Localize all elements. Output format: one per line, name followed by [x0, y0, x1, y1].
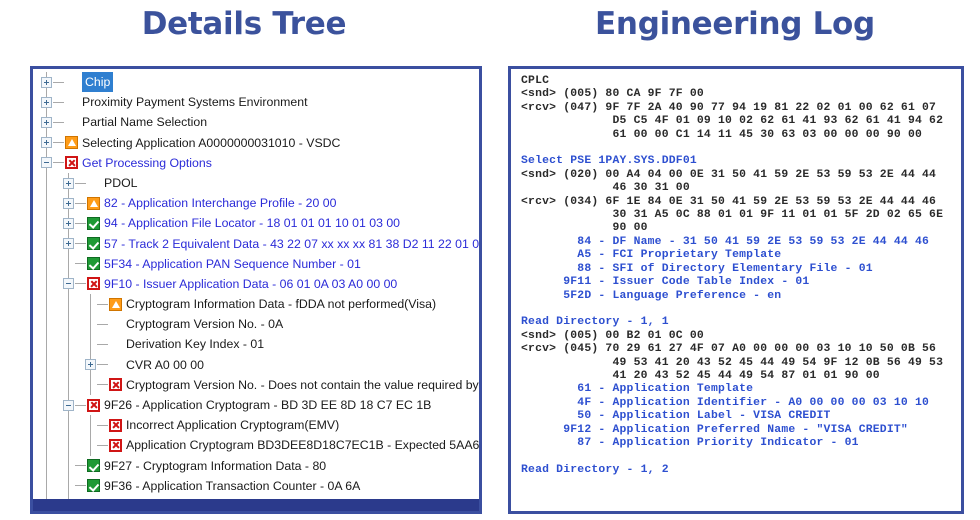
tree-row-label: Chip: [82, 72, 113, 92]
tree-guide-line: [46, 274, 47, 294]
log-line: <rcv> (034) 6F 1E 84 0E 31 50 41 59 2E 5…: [521, 196, 961, 209]
tree-connector: [75, 203, 86, 204]
tree-guide-line: [46, 294, 47, 314]
tree-indent: [33, 254, 63, 274]
tree-row[interactable]: Application Cryptogram BD3DEE8D18C7EC1B …: [33, 435, 479, 455]
expand-icon[interactable]: [85, 359, 96, 370]
engineering-log-list[interactable]: CPLC<snd> (005) 80 CA 9F 7F 00<rcv> (047…: [511, 69, 961, 511]
tree-row[interactable]: 82 - Application Interchange Profile - 2…: [33, 193, 479, 213]
tree-row-label: 9F36 - Application Transaction Counter -…: [104, 476, 360, 496]
tree-connector: [53, 162, 64, 163]
tree-connector: [75, 183, 86, 184]
tree-row-label: Cryptogram Information Data - fDDA not p…: [126, 294, 436, 314]
tree-row-label: Derivation Key Index - 01: [126, 334, 264, 354]
expand-icon[interactable]: [63, 218, 74, 229]
tree-row-label: 5F34 - Application PAN Sequence Number -…: [104, 254, 361, 274]
collapse-icon[interactable]: [63, 278, 74, 289]
tree-row-label: Selecting Application A0000000031010 - V…: [82, 133, 340, 153]
tree-guide-line: [46, 476, 47, 496]
log-line: 87 - Application Priority Indicator - 01: [521, 437, 961, 450]
log-line: 4F - Application Identifier - A0 00 00 0…: [521, 397, 961, 410]
log-line: A5 - FCI Proprietary Template: [521, 249, 961, 262]
tree-row-label: Incorrect Application Cryptogram(EMV): [126, 415, 339, 435]
tree-connector: [97, 324, 108, 325]
log-line: [521, 303, 961, 316]
check-icon: [87, 257, 100, 270]
tree-guide-line: [68, 435, 69, 455]
log-line: <rcv> (045) 70 29 61 27 4F 07 A0 00 00 0…: [521, 343, 961, 356]
collapse-icon[interactable]: [41, 157, 52, 168]
log-line: 46 30 31 00: [521, 182, 961, 195]
tree-connector: [97, 425, 108, 426]
tree-guide-line: [46, 395, 47, 415]
error-x-icon: [87, 277, 100, 290]
error-x-icon: [109, 378, 122, 391]
expander-placeholder: [85, 319, 96, 330]
tree-guide-line: [46, 314, 47, 334]
tree-row[interactable]: Chip: [33, 72, 479, 92]
tree-guide-line: [46, 173, 47, 193]
tree-row[interactable]: Derivation Key Index - 01: [33, 334, 479, 354]
expand-icon[interactable]: [41, 117, 52, 128]
tree-row[interactable]: Partial Name Selection: [33, 112, 479, 132]
tree-connector: [53, 122, 64, 123]
tree-indent: [33, 334, 85, 354]
log-line: D5 C5 4F 01 09 10 02 62 61 41 93 62 61 4…: [521, 115, 961, 128]
tree-guide-line: [68, 375, 69, 395]
tree-indent: [33, 314, 85, 334]
expand-icon[interactable]: [41, 97, 52, 108]
tree-row[interactable]: Selecting Application A0000000031010 - V…: [33, 133, 479, 153]
tree-row-label: Get Processing Options: [82, 153, 212, 173]
log-line: <rcv> (047) 9F 7F 2A 40 90 77 94 19 81 2…: [521, 102, 961, 115]
tree-guide-line: [68, 314, 69, 334]
tree-row-label: Application Cryptogram BD3DEE8D18C7EC1B …: [126, 435, 482, 455]
log-line: [521, 450, 961, 463]
expand-icon[interactable]: [63, 238, 74, 249]
tree-connector: [75, 465, 86, 466]
log-line: 61 - Application Template: [521, 383, 961, 396]
expander-placeholder: [85, 379, 96, 390]
collapse-icon[interactable]: [63, 400, 74, 411]
tree-connector: [75, 263, 86, 264]
error-x-icon: [65, 156, 78, 169]
warning-triangle-icon: [65, 136, 78, 149]
tree-indent: [33, 92, 41, 112]
tree-guide-line: [46, 415, 47, 435]
tree-row-label: 9F10 - Issuer Application Data - 06 01 0…: [104, 274, 397, 294]
tree-row[interactable]: PDOL: [33, 173, 479, 193]
tree-guide-line: [68, 415, 69, 435]
expander-placeholder: [85, 440, 96, 451]
tree-guide-line: [46, 193, 47, 213]
log-line: 9F11 - Issuer Code Table Index - 01: [521, 276, 961, 289]
tree-indent: [33, 435, 85, 455]
tree-row-label: Proximity Payment Systems Environment: [82, 92, 308, 112]
tree-connector: [75, 243, 86, 244]
tree-indent: [33, 274, 63, 294]
page-title-details-tree: Details Tree: [14, 6, 474, 42]
status-icon-placeholder: [65, 116, 78, 129]
tree-connector: [75, 405, 86, 406]
tree-selection-band: [33, 499, 479, 511]
tree-connector: [75, 283, 86, 284]
tree-guide-line: [46, 435, 47, 455]
tree-guide-line: [46, 254, 47, 274]
tree-connector: [97, 344, 108, 345]
tree-row-label: CVR A0 00 00: [126, 355, 204, 375]
log-line: 49 53 41 20 43 52 45 44 49 54 9F 12 0B 5…: [521, 357, 961, 370]
tree-connector: [75, 485, 86, 486]
tree-connector: [97, 304, 108, 305]
tree-indent: [33, 153, 41, 173]
tree-row[interactable]: Incorrect Application Cryptogram(EMV): [33, 415, 479, 435]
tree-indent: [33, 112, 41, 132]
blank-icon: [109, 358, 122, 371]
log-line: Select PSE 1PAY.SYS.DDF01: [521, 155, 961, 168]
tree-row-label: 94 - Application File Locator - 18 01 01…: [104, 213, 400, 233]
engineering-log-panel: CPLC<snd> (005) 80 CA 9F 7F 00<rcv> (047…: [508, 66, 964, 514]
tree-connector: [53, 102, 64, 103]
status-icon-placeholder: [87, 177, 100, 190]
log-line: <snd> (005) 00 B2 01 0C 00: [521, 330, 961, 343]
tree-connector: [97, 384, 108, 385]
expander-placeholder: [85, 299, 96, 310]
tree-row[interactable]: CVR A0 00 00: [33, 355, 479, 375]
tree-indent: [33, 213, 63, 233]
details-tree-list[interactable]: ChipProximity Payment Systems Environmen…: [33, 69, 479, 511]
log-line: <snd> (020) 00 A4 04 00 0E 31 50 41 59 2…: [521, 169, 961, 182]
tree-row[interactable]: 9F10 - Issuer Application Data - 06 01 0…: [33, 274, 479, 294]
expand-icon[interactable]: [63, 178, 74, 189]
tree-guide-line: [46, 234, 47, 254]
blank-icon: [109, 318, 122, 331]
tree-row-label: Partial Name Selection: [82, 112, 207, 132]
tree-guide-line: [46, 334, 47, 354]
expand-icon[interactable]: [63, 198, 74, 209]
tree-guide-line: [46, 375, 47, 395]
tree-row[interactable]: 9F26 - Application Cryptogram - BD 3D EE…: [33, 395, 479, 415]
expand-icon[interactable]: [41, 137, 52, 148]
tree-indent: [33, 193, 63, 213]
tree-row[interactable]: Proximity Payment Systems Environment: [33, 92, 479, 112]
check-icon: [87, 217, 100, 230]
error-x-icon: [87, 399, 100, 412]
log-line: 84 - DF Name - 31 50 41 59 2E 53 59 53 2…: [521, 236, 961, 249]
log-line: [521, 142, 961, 155]
tree-indent: [33, 133, 41, 153]
tree-row-label: 9F27 - Cryptogram Information Data - 80: [104, 456, 326, 476]
log-line: 9F12 - Application Preferred Name - "VIS…: [521, 424, 961, 437]
expander-placeholder: [85, 339, 96, 350]
tree-row[interactable]: 94 - Application File Locator - 18 01 01…: [33, 213, 479, 233]
tree-indent: [33, 375, 85, 395]
tree-indent: [33, 294, 85, 314]
page-root: Details Tree Engineering Log ChipProximi…: [0, 0, 980, 520]
tree-guide-line: [68, 334, 69, 354]
tree-row[interactable]: Cryptogram Version No. - Does not contai…: [33, 375, 479, 395]
tree-row[interactable]: 5F34 - Application PAN Sequence Number -…: [33, 254, 479, 274]
tree-connector: [97, 445, 108, 446]
log-line: 61 00 00 C1 14 11 45 30 63 03 00 00 00 9…: [521, 129, 961, 142]
tree-connector: [75, 223, 86, 224]
log-line: 41 20 43 52 45 44 49 54 87 01 01 90 00: [521, 370, 961, 383]
tree-indent: [33, 395, 63, 415]
log-line: <snd> (005) 80 CA 9F 7F 00: [521, 88, 961, 101]
tree-connector: [53, 142, 64, 143]
tree-row-label: PDOL: [104, 173, 138, 193]
tree-row-label: Cryptogram Version No. - 0A: [126, 314, 283, 334]
check-icon: [87, 479, 100, 492]
tree-indent: [33, 415, 85, 435]
page-title-engineering-log: Engineering Log: [500, 6, 970, 42]
expander-placeholder: [63, 460, 74, 471]
status-icon-placeholder: [65, 96, 78, 109]
warning-triangle-icon: [87, 197, 100, 210]
tree-row[interactable]: 57 - Track 2 Equivalent Data - 43 22 07 …: [33, 234, 479, 254]
tree-row[interactable]: Get Processing Options: [33, 153, 479, 173]
tree-row[interactable]: 9F27 - Cryptogram Information Data - 80: [33, 456, 479, 476]
tree-row[interactable]: 9F36 - Application Transaction Counter -…: [33, 476, 479, 496]
tree-guide-line: [46, 213, 47, 233]
log-line: 30 31 A5 0C 88 01 01 9F 11 01 01 5F 2D 0…: [521, 209, 961, 222]
expander-placeholder: [85, 420, 96, 431]
tree-row-label: 82 - Application Interchange Profile - 2…: [104, 193, 336, 213]
error-x-icon: [109, 439, 122, 452]
tree-guide-line: [46, 456, 47, 476]
expander-placeholder: [63, 258, 74, 269]
check-icon: [87, 237, 100, 250]
tree-indent: [33, 355, 85, 375]
tree-row-label: 9F26 - Application Cryptogram - BD 3D EE…: [104, 395, 431, 415]
expander-placeholder: [63, 480, 74, 491]
tree-connector: [97, 364, 108, 365]
tree-indent: [33, 234, 63, 254]
log-line: CPLC: [521, 75, 961, 88]
details-tree-panel: ChipProximity Payment Systems Environmen…: [30, 66, 482, 514]
error-x-icon: [109, 419, 122, 432]
tree-row[interactable]: Cryptogram Version No. - 0A: [33, 314, 479, 334]
warning-triangle-icon: [109, 298, 122, 311]
tree-guide-line: [68, 294, 69, 314]
log-line: 88 - SFI of Directory Elementary File - …: [521, 263, 961, 276]
tree-indent: [33, 456, 63, 476]
blank-icon: [109, 338, 122, 351]
check-icon: [87, 459, 100, 472]
log-line: 50 - Application Label - VISA CREDIT: [521, 410, 961, 423]
tree-row[interactable]: Cryptogram Information Data - fDDA not p…: [33, 294, 479, 314]
tree-indent: [33, 72, 41, 92]
tree-connector: [53, 82, 64, 83]
tree-indent: [33, 476, 63, 496]
log-line: 90 00: [521, 222, 961, 235]
log-line: Read Directory - 1, 1: [521, 316, 961, 329]
log-line: 5F2D - Language Preference - en: [521, 290, 961, 303]
expand-icon[interactable]: [41, 77, 52, 88]
tree-guide-line: [68, 355, 69, 375]
log-line: Read Directory - 1, 2: [521, 464, 961, 477]
tree-indent: [33, 173, 63, 193]
tree-guide-line: [46, 355, 47, 375]
status-icon-placeholder: [65, 76, 78, 89]
tree-row-label: Cryptogram Version No. - Does not contai…: [126, 375, 482, 395]
tree-row-label: 57 - Track 2 Equivalent Data - 43 22 07 …: [104, 234, 482, 254]
